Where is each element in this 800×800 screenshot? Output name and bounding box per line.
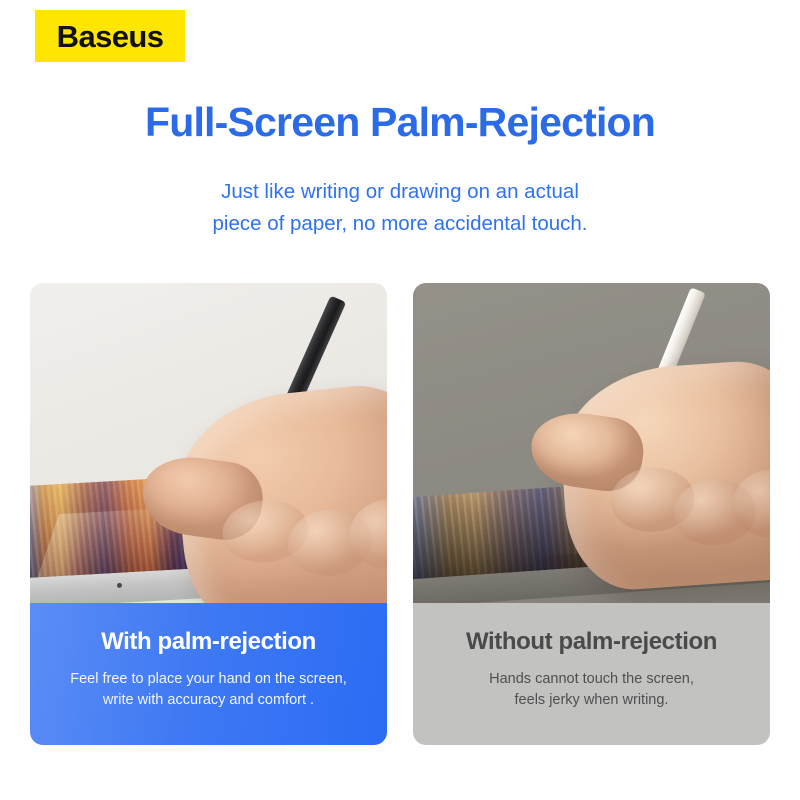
subheadline-line-1: Just like writing or drawing on an actua… [0, 176, 800, 208]
caption-title-with: With palm-rejection [30, 629, 387, 655]
panel-with-palm-rejection: With palm-rejection Feel free to place y… [30, 283, 387, 745]
panel-without-palm-rejection: Without palm-rejection Hands cannot touc… [413, 283, 770, 745]
hand-resting-on-screen [169, 378, 387, 603]
photo-without-palm-rejection [413, 283, 770, 603]
caption-title-without: Without palm-rejection [413, 629, 770, 655]
caption-body-without: Hands cannot touch the screen, feels jer… [413, 669, 770, 711]
brand-logo: Baseus [35, 10, 185, 62]
page-headline: Full-Screen Palm-Rejection [0, 100, 800, 145]
caption-with-palm-rejection: With palm-rejection Feel free to place y… [30, 603, 387, 745]
photo-with-palm-rejection [30, 283, 387, 603]
subheadline-line-2: piece of paper, no more accidental touch… [0, 208, 800, 240]
caption-body-without-line-2: feels jerky when writing. [413, 690, 770, 711]
caption-body-with-line-2: write with accuracy and comfort . [30, 690, 387, 711]
caption-body-with-line-1: Feel free to place your hand on the scre… [30, 669, 387, 690]
page-subheadline: Just like writing or drawing on an actua… [0, 176, 800, 240]
caption-body-with: Feel free to place your hand on the scre… [30, 669, 387, 711]
caption-body-without-line-1: Hands cannot touch the screen, [413, 669, 770, 690]
brand-logo-text: Baseus [57, 21, 164, 52]
hand-hovering-above-screen [556, 356, 770, 593]
comparison-panels: With palm-rejection Feel free to place y… [30, 283, 770, 745]
caption-without-palm-rejection: Without palm-rejection Hands cannot touc… [413, 603, 770, 745]
